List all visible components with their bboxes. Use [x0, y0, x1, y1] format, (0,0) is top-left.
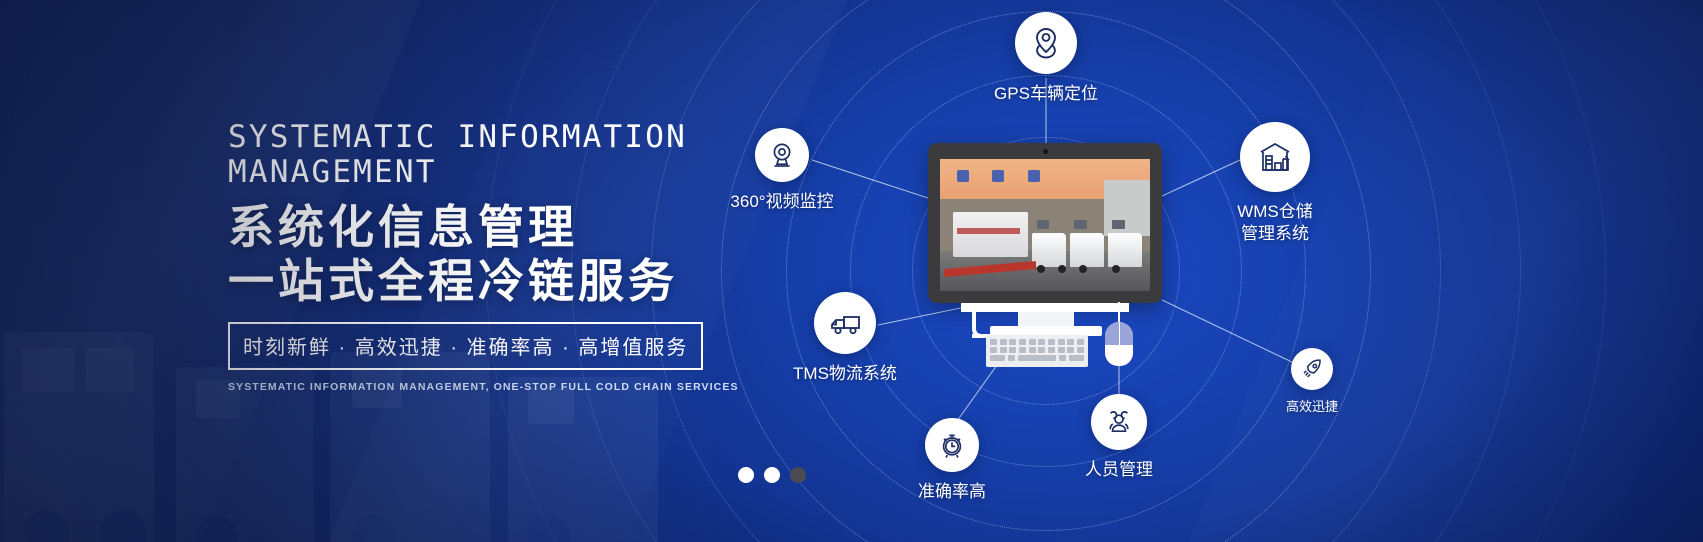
feature-label-video: 360°视频监控	[722, 191, 842, 213]
feature-node-speed[interactable]: 高效迅捷	[1272, 348, 1352, 416]
hero-banner: SYSTEMATIC INFORMATION MANAGEMENT 系统化信息管…	[0, 0, 1703, 542]
keyboard	[986, 335, 1088, 367]
feature-label-speed: 高效迅捷	[1272, 399, 1352, 416]
feature-node-wms[interactable]: WMS仓储 管理系统	[1216, 122, 1334, 245]
chinese-headline-line2: 一站式全程冷链服务	[228, 254, 698, 308]
feature-label-gps: GPS车辆定位	[986, 83, 1106, 105]
rocket-icon	[1291, 348, 1333, 390]
location-pin-icon	[1015, 12, 1077, 74]
headline-block: SYSTEMATIC INFORMATION MANAGEMENT 系统化信息管…	[228, 120, 698, 393]
carousel-dot-3[interactable]	[790, 467, 806, 483]
tagline-text: 时刻新鲜 · 高效迅捷 · 准确率高 · 高增值服务	[243, 331, 688, 360]
mouse-cable	[1118, 302, 1120, 324]
feature-node-accuracy[interactable]: 准确率高	[898, 418, 1006, 503]
carousel-dot-2[interactable]	[764, 467, 780, 483]
stopwatch-icon	[925, 418, 979, 472]
monitor	[928, 143, 1162, 303]
feature-label-tms: TMS物流系统	[786, 363, 904, 385]
monitor-stand	[1018, 312, 1074, 326]
carousel-dot-1[interactable]	[738, 467, 754, 483]
delivery-truck-icon	[814, 292, 876, 354]
chinese-headline: 系统化信息管理 一站式全程冷链服务	[228, 200, 698, 308]
people-group-icon	[1091, 394, 1147, 450]
mouse	[1105, 322, 1133, 366]
feature-node-gps[interactable]: GPS车辆定位	[986, 12, 1106, 105]
warehouse-icon	[1240, 122, 1310, 192]
feature-label-accuracy: 准确率高	[898, 481, 1006, 503]
monitor-screen	[940, 159, 1150, 291]
cctv-camera-icon	[755, 128, 809, 182]
feature-node-tms[interactable]: TMS物流系统	[786, 292, 904, 385]
feature-node-video[interactable]: 360°视频监控	[722, 128, 842, 213]
chinese-headline-line1: 系统化信息管理	[228, 201, 578, 253]
tagline-box: 时刻新鲜 · 高效迅捷 · 准确率高 · 高增值服务	[228, 322, 703, 370]
webcam-dot	[1043, 149, 1048, 154]
feature-label-people: 人员管理	[1064, 459, 1174, 481]
feature-label-wms: WMS仓储 管理系统	[1216, 201, 1334, 245]
english-headline: SYSTEMATIC INFORMATION MANAGEMENT	[228, 120, 698, 190]
light-streak	[1124, 0, 1703, 542]
feature-node-people[interactable]: 人员管理	[1064, 394, 1174, 481]
english-subtitle: SYSTEMATIC INFORMATION MANAGEMENT, ONE-S…	[228, 381, 698, 393]
carousel-dots[interactable]	[738, 467, 806, 483]
